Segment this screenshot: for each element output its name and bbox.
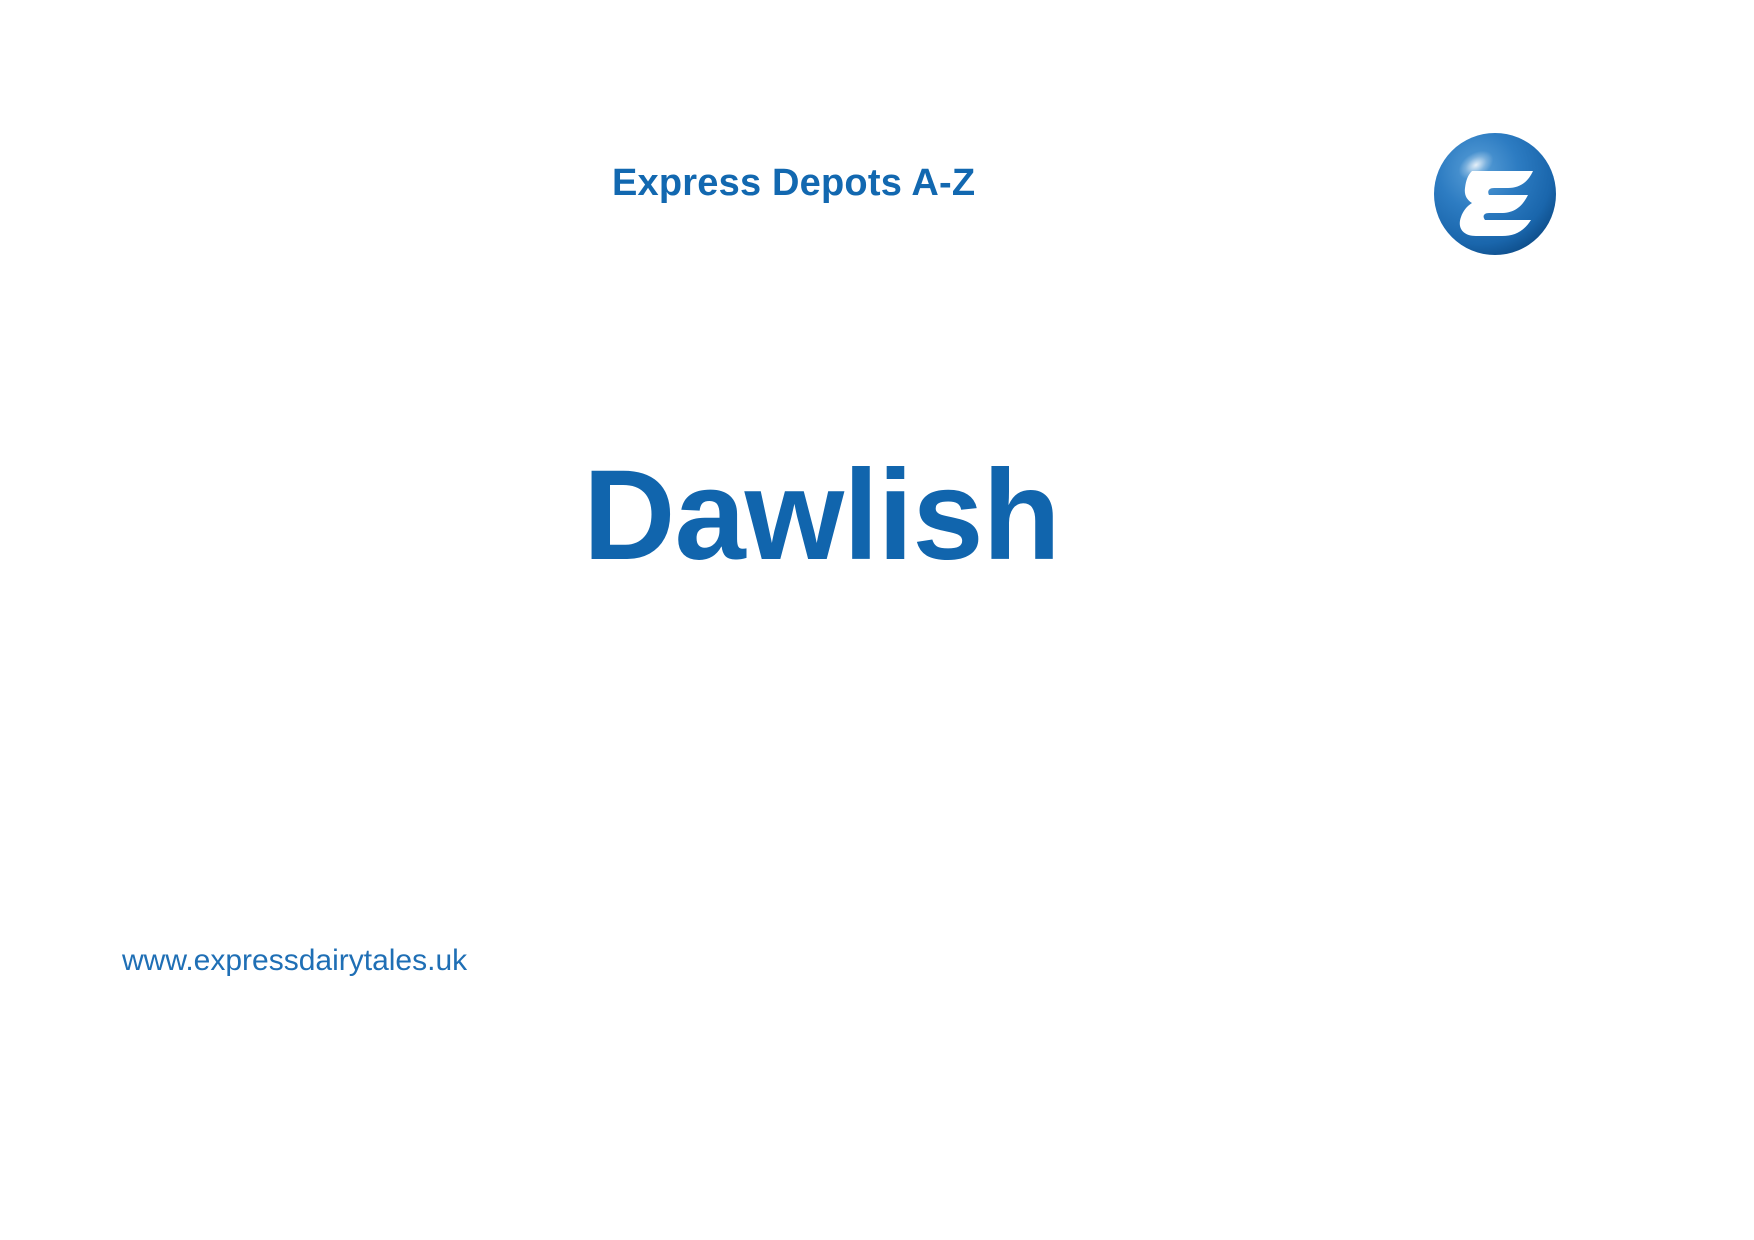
- depot-name-heading: Dawlish: [583, 452, 1060, 580]
- page-title: Express Depots A-Z: [612, 162, 975, 205]
- logo-sphere: [1434, 133, 1556, 255]
- express-logo-icon: [1432, 131, 1558, 257]
- website-url[interactable]: www.expressdairytales.uk: [122, 944, 467, 978]
- slide-canvas: Express Depots A-Z Dawlish www.expressda…: [0, 0, 1754, 1240]
- express-logo: [1432, 131, 1558, 257]
